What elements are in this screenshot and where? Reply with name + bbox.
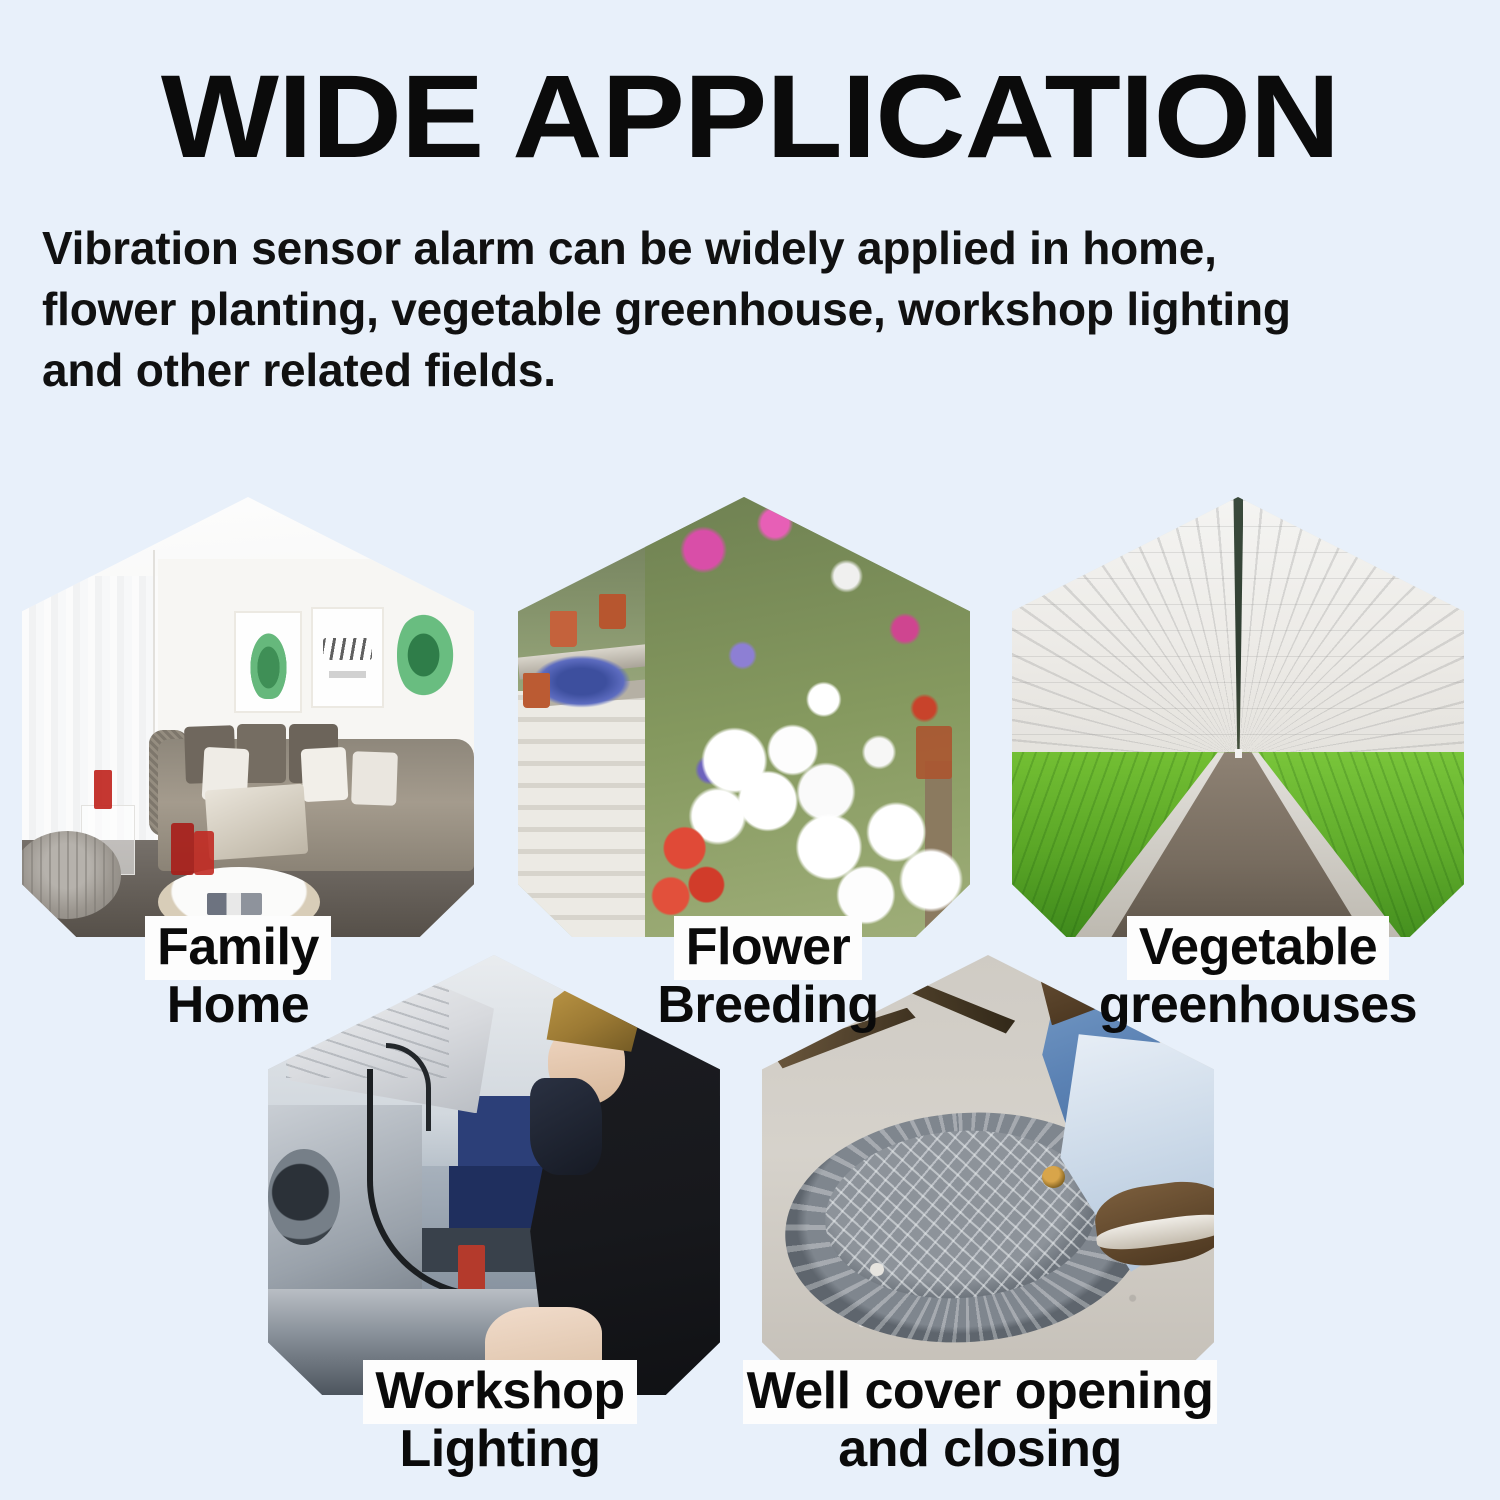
- tile-label-workshop-lighting-line1: Workshop: [363, 1360, 636, 1424]
- description-line-3: and other related fields.: [42, 340, 1472, 401]
- tile-label-flower-breeding-line1: Flower: [674, 916, 863, 980]
- hex-tile-family-home: [22, 497, 474, 937]
- tile-label-well-cover-line2: and closing: [730, 1420, 1230, 1478]
- tile-label-vegetable-greenhouses-line2: greenhouses: [1068, 976, 1448, 1034]
- page-description: Vibration sensor alarm can be widely app…: [42, 218, 1472, 402]
- page-title: WIDE APPLICATION: [0, 58, 1500, 176]
- tile-label-workshop-lighting-line2: Lighting: [330, 1420, 670, 1478]
- tile-label-flower-breeding: Flower Breeding: [608, 918, 928, 1034]
- tile-label-family-home: Family Home: [78, 918, 398, 1034]
- header: WIDE APPLICATION Vibration sensor alarm …: [0, 0, 1500, 402]
- tile-label-workshop-lighting: Workshop Lighting: [330, 1362, 670, 1478]
- tile-label-vegetable-greenhouses: Vegetable greenhouses: [1068, 918, 1448, 1034]
- living-room-scene: [22, 497, 474, 937]
- description-line-2: flower planting, vegetable greenhouse, w…: [42, 279, 1472, 340]
- hex-tile-flower-breeding: [518, 497, 970, 937]
- description-line-1: Vibration sensor alarm can be widely app…: [42, 218, 1472, 279]
- tile-label-flower-breeding-line2: Breeding: [608, 976, 928, 1034]
- tile-label-vegetable-greenhouses-line1: Vegetable: [1127, 916, 1389, 980]
- tile-label-family-home-line2: Home: [78, 976, 398, 1034]
- tile-label-well-cover-line1: Well cover opening: [743, 1360, 1218, 1424]
- tile-label-well-cover: Well cover opening and closing: [730, 1362, 1230, 1478]
- tile-label-family-home-line1: Family: [145, 916, 331, 980]
- flower-shop-scene: [518, 497, 970, 937]
- hex-tile-vegetable-greenhouses: [1012, 497, 1464, 937]
- greenhouse-scene: [1012, 497, 1464, 937]
